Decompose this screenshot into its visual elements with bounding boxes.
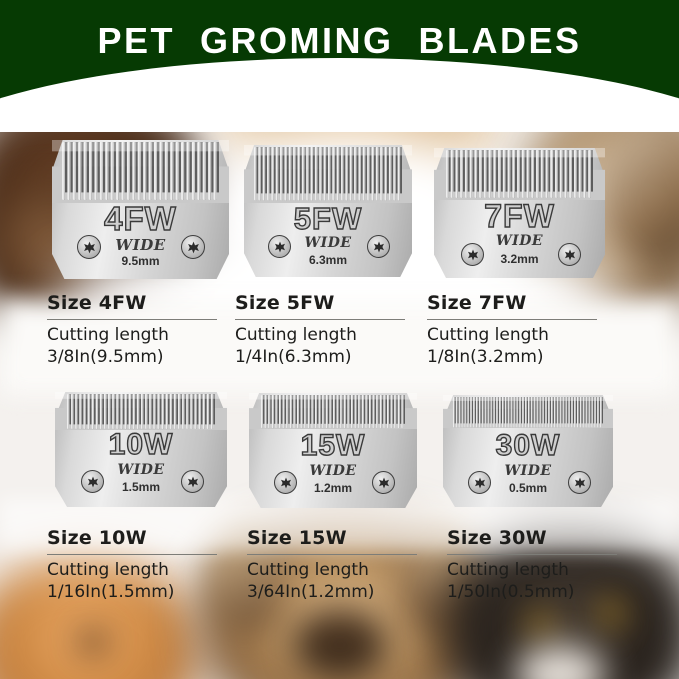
blade-code-label: 5FW [244, 203, 412, 234]
spec-cutting-length-label: Cutting length [447, 559, 617, 581]
spec-divider [47, 554, 217, 555]
header-banner: PET GROMING BLADES [0, 0, 679, 132]
spec-divider [427, 319, 597, 320]
blade-code-label: 4FW [52, 202, 229, 235]
spec-cutting-length-label: Cutting length [47, 324, 217, 346]
blade-code-label: 10W [55, 430, 227, 460]
spec-divider [235, 319, 405, 320]
blade-teeth [249, 393, 417, 429]
blade-teeth [244, 145, 412, 203]
spec-cutting-length-value: 1/8In(3.2mm) [427, 346, 597, 368]
spec-title: Size 15W [247, 527, 417, 549]
blade-image-30w: 30W WIDE 0.5mm [443, 395, 613, 507]
blade-wide-marking: WIDE [434, 233, 605, 249]
page-title: PET GROMING BLADES [0, 20, 679, 62]
blade-code-label: 15W [249, 431, 417, 461]
spec-block-4fw: Size 4FW Cutting length 3/8In(9.5mm) [47, 292, 217, 369]
spec-divider [47, 319, 217, 320]
background-photo-cat-eye-left [530, 612, 552, 638]
spec-block-7fw: Size 7FW Cutting length 1/8In(3.2mm) [427, 292, 597, 369]
screw-hole-right-icon [181, 470, 204, 493]
blade-image-15w: 15W WIDE 1.2mm [249, 393, 417, 508]
screw-hole-left-icon [468, 471, 491, 494]
screw-hole-right-icon [372, 471, 395, 494]
blade-teeth [52, 140, 229, 203]
background-photo-shepherd-muzzle [295, 610, 385, 679]
spec-divider [447, 554, 617, 555]
background-photo-orange-puppy-eye [80, 630, 106, 654]
blade-teeth [434, 148, 605, 200]
spec-cutting-length-value: 3/64In(1.2mm) [247, 581, 417, 603]
blade-mm-value: 6.3mm [244, 253, 412, 267]
screw-hole-right-icon [558, 243, 581, 266]
spec-title: Size 5FW [235, 292, 405, 314]
spec-cutting-length-label: Cutting length [235, 324, 405, 346]
screw-hole-left-icon [77, 235, 101, 259]
screw-hole-left-icon [274, 471, 297, 494]
spec-cutting-length-label: Cutting length [247, 559, 417, 581]
spec-title: Size 4FW [47, 292, 217, 314]
infographic-canvas: PET GROMING BLADES 4FW WIDE 9.5mm [0, 0, 679, 679]
spec-block-15w: Size 15W Cutting length 3/64In(1.2mm) [247, 527, 417, 604]
spec-cutting-length-value: 1/16In(1.5mm) [47, 581, 217, 603]
spec-block-30w: Size 30W Cutting length 1/50In(0.5mm) [447, 527, 617, 604]
screw-hole-left-icon [81, 470, 104, 493]
blade-image-10w: 10W WIDE 1.5mm [55, 392, 227, 507]
blade-code-label: 30W [443, 431, 613, 461]
blade-image-7fw: 7FW WIDE 3.2mm [434, 148, 605, 278]
screw-hole-right-icon [367, 235, 390, 258]
spec-cutting-length-value: 1/50In(0.5mm) [447, 581, 617, 603]
blade-teeth [443, 395, 613, 428]
spec-block-10w: Size 10W Cutting length 1/16In(1.5mm) [47, 527, 217, 604]
blade-image-4fw: 4FW WIDE 9.5mm [52, 140, 229, 279]
spec-cutting-length-label: Cutting length [47, 559, 217, 581]
blade-image-5fw: 5FW WIDE 6.3mm [244, 145, 412, 277]
spec-title: Size 10W [47, 527, 217, 549]
blade-code-label: 7FW [434, 200, 605, 232]
spec-cutting-length-value: 1/4In(6.3mm) [235, 346, 405, 368]
spec-title: Size 7FW [427, 292, 597, 314]
blade-mm-value: 9.5mm [52, 254, 229, 268]
spec-divider [247, 554, 417, 555]
header-arc-cutout [0, 58, 679, 132]
screw-hole-right-icon [568, 471, 591, 494]
spec-title: Size 30W [447, 527, 617, 549]
spec-block-5fw: Size 5FW Cutting length 1/4In(6.3mm) [235, 292, 405, 369]
blade-teeth [55, 392, 227, 430]
screw-hole-left-icon [268, 235, 291, 258]
spec-cutting-length-value: 3/8In(9.5mm) [47, 346, 217, 368]
spec-cutting-length-label: Cutting length [427, 324, 597, 346]
screw-hole-left-icon [461, 243, 484, 266]
background-photo-cat-eye-right [600, 600, 622, 626]
screw-hole-right-icon [181, 235, 205, 259]
